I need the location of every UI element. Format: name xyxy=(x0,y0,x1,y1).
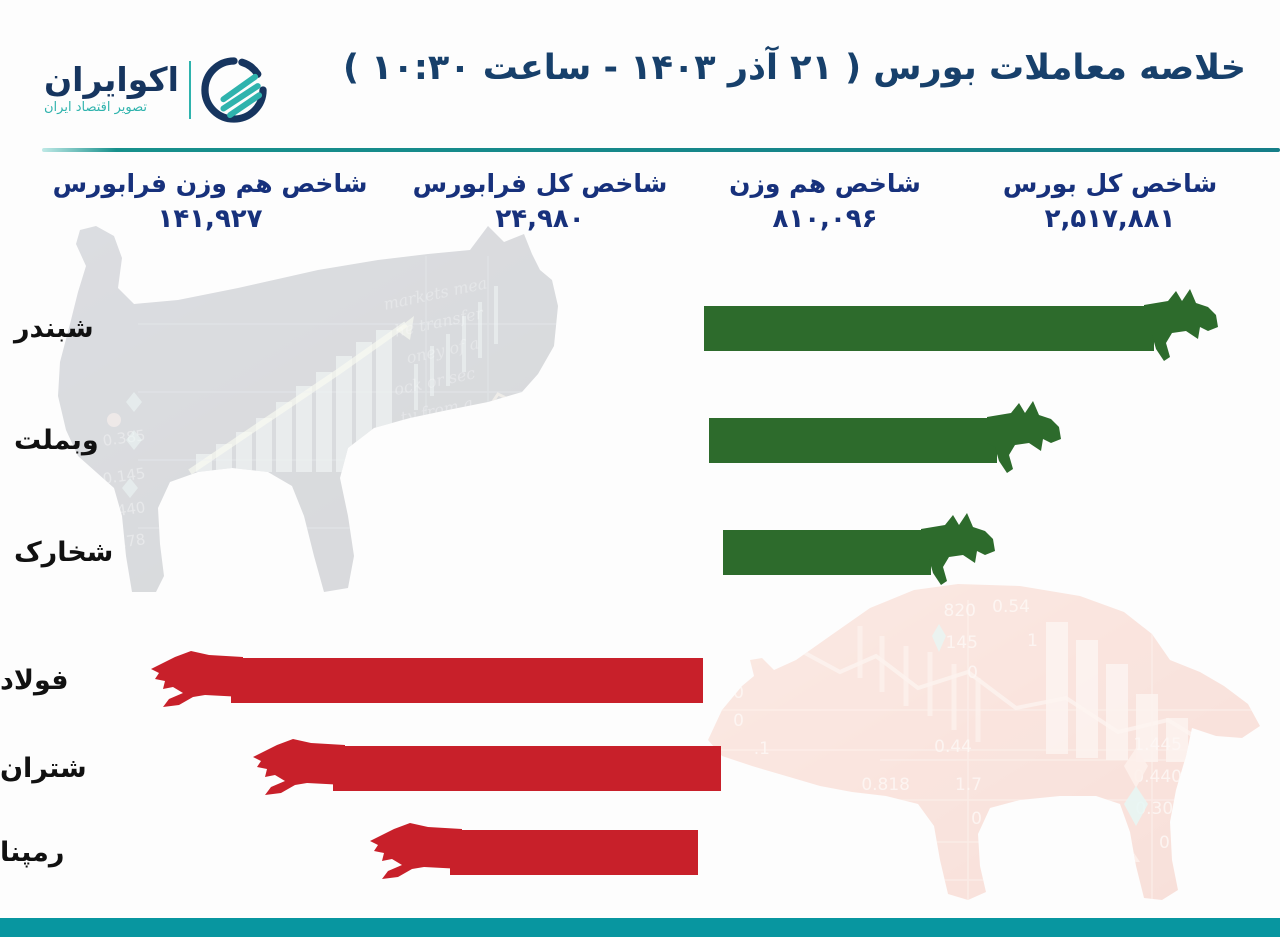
chart-row: شخارک xyxy=(0,522,931,582)
page-title: خلاصه معاملات بورس ( ۲۱ آذر ۱۴۰۳ - ساعت … xyxy=(343,48,1246,88)
index-label: شاخص هم وزن فرابورس xyxy=(30,170,390,199)
index-value: ۲۴,۹۸۰ xyxy=(390,203,690,237)
bar-label: شتران xyxy=(0,753,87,784)
symbol-impact-bar-chart: شبندر وبملت شخارک xyxy=(0,250,1280,910)
bar-up[interactable] xyxy=(704,306,1154,351)
index-label: شاخص کل فرابورس xyxy=(390,170,690,199)
bull-icon xyxy=(1142,287,1220,369)
bear-icon xyxy=(368,821,464,883)
bar-down[interactable] xyxy=(231,658,703,703)
index-value: ۸۱۰,۰۹۶ xyxy=(690,203,960,237)
bar-label: شخارک xyxy=(14,537,113,568)
logo-subtitle: تصویر اقتصاد ایران xyxy=(44,99,147,117)
bull-icon xyxy=(919,511,997,593)
chart-row: شبندر xyxy=(0,298,1154,358)
index-label: شاخص هم وزن xyxy=(690,170,960,199)
brand-logo[interactable]: اکوایران تصویر اقتصاد ایران xyxy=(44,44,267,136)
bar-label: رمپنا xyxy=(0,837,64,868)
bar-label: فولاد xyxy=(0,665,69,696)
bull-icon xyxy=(985,399,1063,481)
header-divider xyxy=(42,148,1280,152)
chart-row: فولاد xyxy=(0,650,703,710)
index-value: ۲,۵۱۷,۸۸۱ xyxy=(960,203,1260,237)
index-summary-strip: شاخص کل بورس ۲,۵۱۷,۸۸۱ شاخص هم وزن ۸۱۰,۰… xyxy=(0,170,1280,250)
index-card-equal-weight: شاخص هم وزن ۸۱۰,۰۹۶ xyxy=(690,170,960,237)
footer-bar xyxy=(0,918,1280,937)
bear-icon xyxy=(251,737,347,799)
bear-icon xyxy=(149,649,245,711)
infographic-page: 0.385 0.145 0.440 1.78 0.420 0.245 335 m… xyxy=(0,0,1280,937)
bar-up[interactable] xyxy=(709,418,997,463)
header: خلاصه معاملات بورس ( ۲۱ آذر ۱۴۰۳ - ساعت … xyxy=(0,0,1280,150)
chart-row: وبملت xyxy=(0,410,997,470)
index-label: شاخص کل بورس xyxy=(960,170,1260,199)
bar-label: وبملت xyxy=(14,425,99,456)
chart-row: رمپنا xyxy=(0,822,698,882)
bar-down[interactable] xyxy=(333,746,721,791)
bar-label: شبندر xyxy=(14,313,94,344)
index-card-total-farabourse: شاخص کل فرابورس ۲۴,۹۸۰ xyxy=(390,170,690,237)
bar-up[interactable] xyxy=(723,530,931,575)
bar-down[interactable] xyxy=(450,830,698,875)
index-card-equal-weight-farabourse: شاخص هم وزن فرابورس ۱۴۱,۹۲۷ xyxy=(30,170,390,237)
index-value: ۱۴۱,۹۲۷ xyxy=(30,203,390,237)
index-card-total-bourse: شاخص کل بورس ۲,۵۱۷,۸۸۱ xyxy=(960,170,1260,237)
eco-iran-circle-logo-icon xyxy=(201,57,267,123)
logo-divider xyxy=(189,61,191,119)
logo-title: اکوایران xyxy=(44,63,179,98)
chart-row: شتران xyxy=(0,738,721,798)
